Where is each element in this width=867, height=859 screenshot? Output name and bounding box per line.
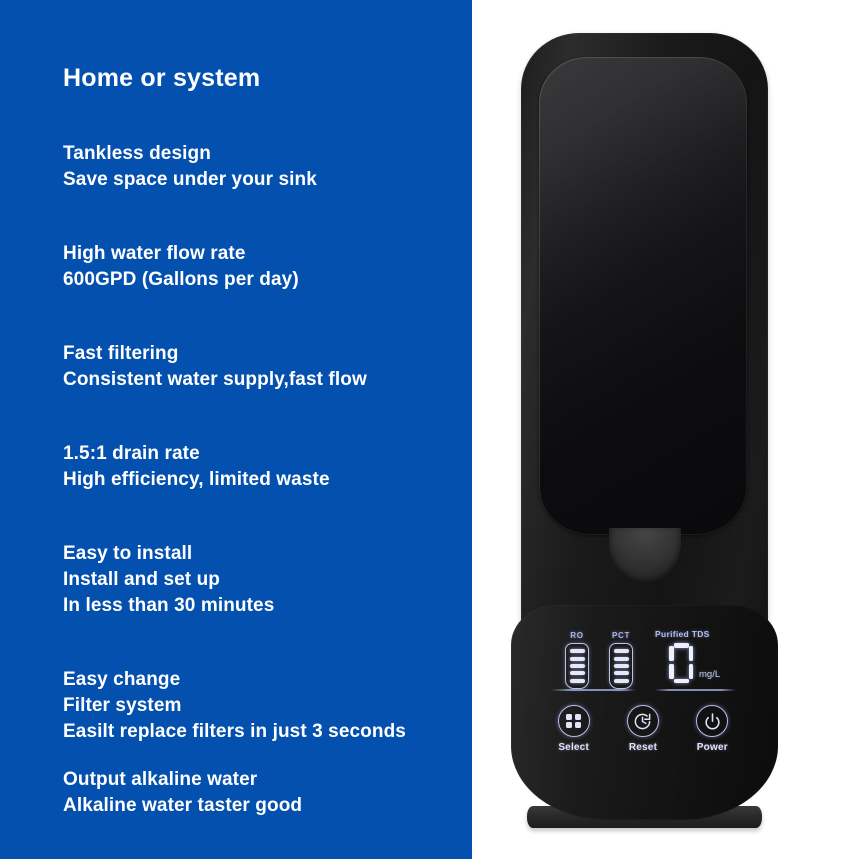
feature-line: Fast filtering <box>63 341 367 367</box>
feature-line: Easilt replace filters in just 3 seconds <box>63 719 406 745</box>
filter-gauge-capsule <box>565 643 589 689</box>
product-image-area: RO PCT <box>472 0 867 859</box>
grid-icon <box>566 714 581 729</box>
feature-line: Alkaline water taster good <box>63 793 302 819</box>
gauge-segment <box>570 671 585 675</box>
control-panel: RO PCT <box>539 623 747 778</box>
gauge-segment <box>570 649 585 653</box>
touch-button-row: Select Reset <box>539 705 747 753</box>
feature-item-easy-install: Easy to install Install and set up In le… <box>63 541 274 619</box>
seg-e <box>669 664 674 679</box>
power-button-label: Power <box>685 742 739 753</box>
gauge-segment <box>614 649 629 653</box>
feature-item-tankless: Tankless design Save space under your si… <box>63 141 317 193</box>
filter-gauge-pct: PCT <box>608 631 634 689</box>
feature-line: In less than 30 minutes <box>63 593 274 619</box>
feature-line: Easy to install <box>63 541 274 567</box>
filter-gauge-ro: RO <box>564 631 590 689</box>
gauge-segment <box>570 664 585 668</box>
feature-item-fast-filtering: Fast filtering Consistent water supply,f… <box>63 341 367 393</box>
gauge-segment <box>614 664 629 668</box>
gauge-segment <box>570 657 585 661</box>
filter-gauge-label: PCT <box>608 631 634 640</box>
feature-line: Easy change <box>63 667 406 693</box>
feature-item-alkaline-water: Output alkaline water Alkaline water tas… <box>63 767 302 819</box>
clock-icon <box>633 712 652 731</box>
select-button-label: Select <box>547 742 601 753</box>
feature-line: High water flow rate <box>63 241 299 267</box>
gauge-segment <box>614 679 629 683</box>
tds-readout: 0 mg/L <box>669 643 744 683</box>
gauge-segment <box>614 657 629 661</box>
select-button-circle[interactable] <box>558 705 590 737</box>
feature-line: High efficiency, limited waste <box>63 467 330 493</box>
reset-button[interactable]: Reset <box>616 705 670 753</box>
gauge-segment <box>570 679 585 683</box>
feature-line: 1.5:1 drain rate <box>63 441 330 467</box>
gloss-edge-highlight <box>539 57 747 535</box>
filter-gauge-label: RO <box>564 631 590 640</box>
tds-label: Purified TDS <box>655 629 744 639</box>
device-front-gloss-panel <box>539 57 747 535</box>
seg-d <box>674 679 689 684</box>
panel-divider <box>551 689 736 691</box>
feature-panel: Home or system Tankless design Save spac… <box>0 0 472 859</box>
power-icon <box>703 712 722 731</box>
seg-b <box>689 646 694 661</box>
screenshot-root: Home or system Tankless design Save spac… <box>0 0 867 859</box>
page-title: Home or system <box>63 64 260 93</box>
feature-line: 600GPD (Gallons per day) <box>63 267 299 293</box>
tds-display: Purified TDS 0 mg/L <box>649 629 744 683</box>
reset-button-circle[interactable] <box>627 705 659 737</box>
filter-gauges: RO PCT <box>564 631 634 689</box>
feature-line: Filter system <box>63 693 406 719</box>
water-dispenser-nozzle <box>609 528 681 584</box>
tds-unit: mg/L <box>699 669 720 680</box>
feature-item-flow-rate: High water flow rate 600GPD (Gallons per… <box>63 241 299 293</box>
select-button[interactable]: Select <box>547 705 601 753</box>
feature-line: Save space under your sink <box>63 167 317 193</box>
power-button[interactable]: Power <box>685 705 739 753</box>
seg-c <box>689 664 694 679</box>
feature-line: Output alkaline water <box>63 767 302 793</box>
water-purifier-device: RO PCT <box>521 33 768 818</box>
gauge-segment <box>614 671 629 675</box>
feature-line: Install and set up <box>63 567 274 593</box>
feature-line: Tankless design <box>63 141 317 167</box>
power-button-circle[interactable] <box>696 705 728 737</box>
feature-item-drain-rate: 1.5:1 drain rate High efficiency, limite… <box>63 441 330 493</box>
reset-button-label: Reset <box>616 742 670 753</box>
feature-line: Consistent water supply,fast flow <box>63 367 367 393</box>
feature-item-easy-change: Easy change Filter system Easilt replace… <box>63 667 406 745</box>
tds-value-digit: 0 <box>669 643 693 683</box>
gloss-reflection <box>539 57 747 535</box>
filter-gauge-capsule <box>609 643 633 689</box>
